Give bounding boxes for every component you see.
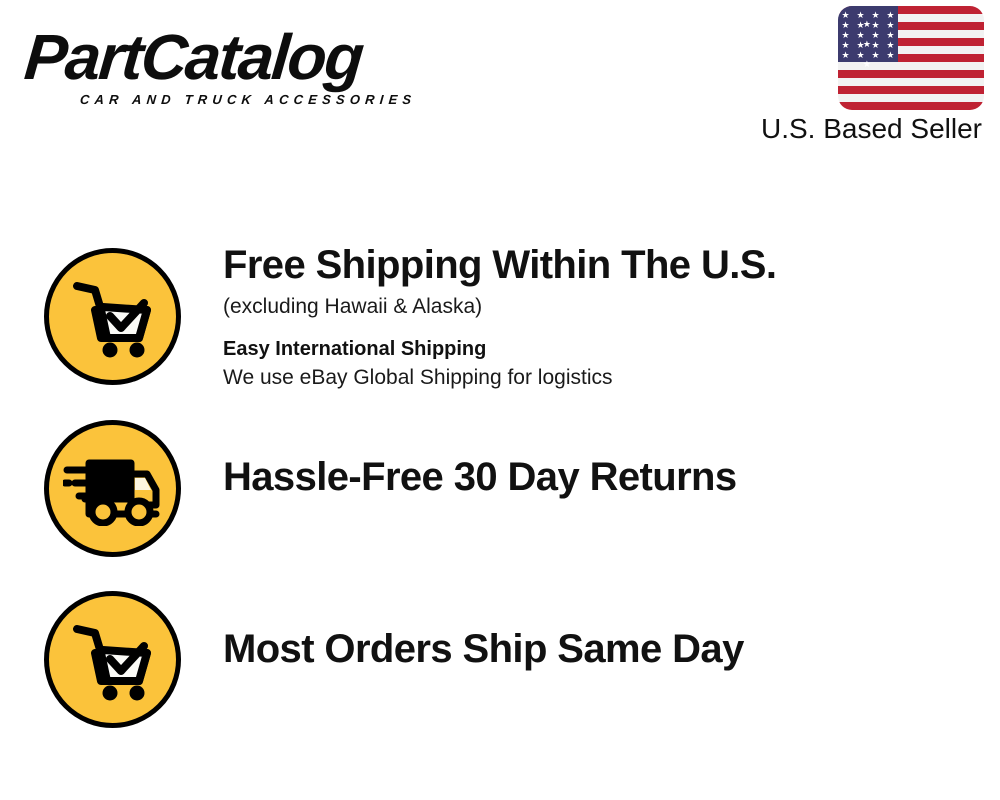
flag-canton: ★ ★ ★ ★ ★ ★ ★ ★ ★ ★ ★ ★ ★ ★ ★ ★ ★ ★ ★ ★ … — [838, 6, 898, 62]
us-based-seller-label: U.S. Based Seller — [714, 112, 984, 146]
shopping-cart-check-icon — [44, 591, 181, 728]
shopping-cart-check-icon — [44, 248, 181, 385]
feature-subnote: (excluding Hawaii & Alaska) — [223, 294, 1000, 320]
flag-star-row: ★ ★ ★ ★ ★ — [838, 51, 898, 69]
page-header: PartCatalog CAR AND TRUCK ACCESSORIES ★ … — [0, 0, 1000, 170]
flag-star-row: ★ ★ ★ ★ — [838, 21, 898, 30]
feature-row: Free Shipping Within The U.S. (excluding… — [0, 226, 1000, 396]
feature-sub-bold: Easy International Shipping — [223, 336, 1000, 362]
feature-headline: Free Shipping Within The U.S. — [223, 242, 1000, 288]
brand-name: PartCatalog — [22, 24, 498, 90]
flag-star-row: ★ ★ ★ ★ — [838, 41, 898, 50]
feature-text-block: Most Orders Ship Same Day — [223, 626, 1000, 672]
us-flag-icon: ★ ★ ★ ★ ★ ★ ★ ★ ★ ★ ★ ★ ★ ★ ★ ★ ★ ★ ★ ★ … — [838, 6, 984, 110]
feature-sub-regular: We use eBay Global Shipping for logistic… — [223, 364, 1000, 391]
feature-text-block: Hassle-Free 30 Day Returns — [223, 454, 1000, 500]
us-based-seller-block: ★ ★ ★ ★ ★ ★ ★ ★ ★ ★ ★ ★ ★ ★ ★ ★ ★ ★ ★ ★ … — [714, 6, 984, 146]
brand-tagline: CAR AND TRUCK ACCESSORIES — [79, 92, 417, 107]
brand-logo[interactable]: PartCatalog CAR AND TRUCK ACCESSORIES — [22, 24, 492, 119]
feature-row: Hassle-Free 30 Day Returns — [0, 396, 1000, 568]
feature-row: Most Orders Ship Same Day — [0, 568, 1000, 740]
feature-headline: Hassle-Free 30 Day Returns — [223, 454, 1000, 500]
feature-headline: Most Orders Ship Same Day — [223, 626, 1000, 672]
feature-text-block: Free Shipping Within The U.S. (excluding… — [223, 242, 1000, 391]
delivery-truck-icon — [44, 420, 181, 557]
